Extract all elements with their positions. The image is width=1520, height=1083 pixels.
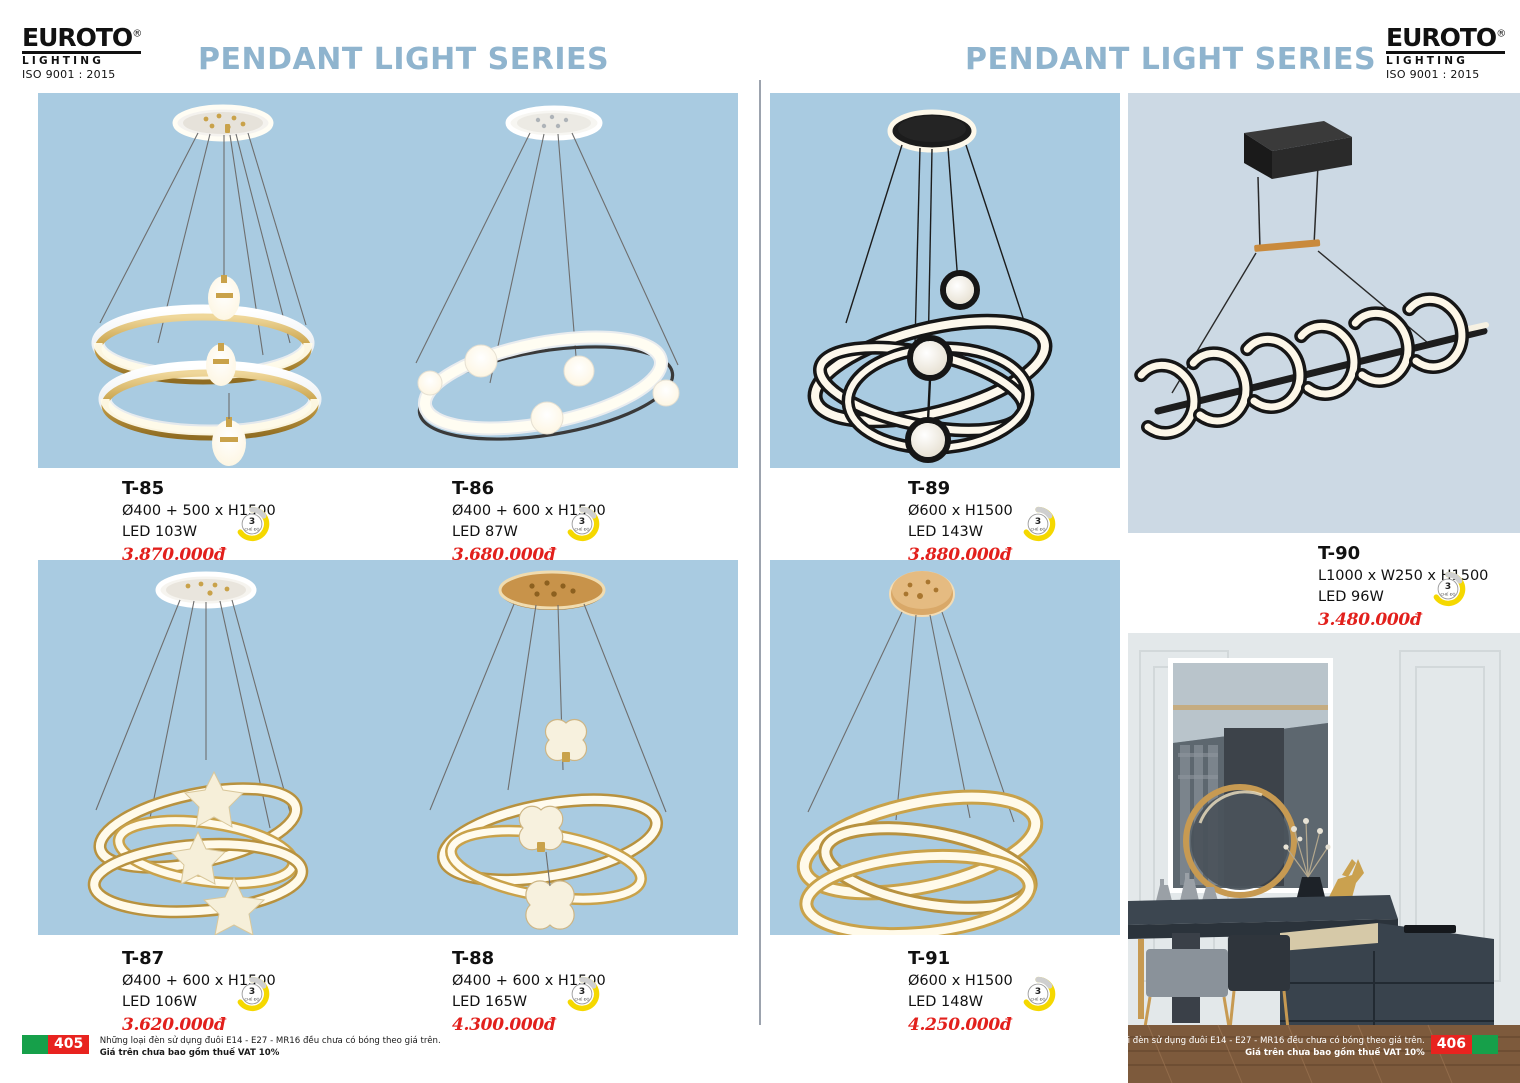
warranty-3-year-icon: 3 CHẾ ĐỘ [1020, 506, 1056, 542]
caption-t85: T-85 Ø400 + 500 x H1500 LED 103W 3.870.0… [122, 478, 276, 568]
warranty-3-year-icon: 3 CHẾ ĐỘ [1020, 976, 1056, 1012]
lamp-illustrations-bottom-left [38, 560, 738, 935]
caption-t89: T-89 Ø600 x H1500 LED 143W 3.880.000đ 3 … [908, 478, 1060, 568]
svg-text:3: 3 [1034, 517, 1040, 527]
svg-text:3: 3 [578, 987, 584, 997]
product-code: T-86 [452, 478, 606, 501]
logo-subtitle: LIGHTING [22, 55, 147, 67]
product-code: T-90 [1318, 543, 1488, 566]
logo-iso-text: ISO 9001 : 2015 [1386, 68, 1511, 81]
svg-text:3: 3 [578, 517, 584, 527]
footer-note-line1: Những loại đèn sử dụng đuôi E14 - E27 - … [1084, 1036, 1425, 1046]
left-page-footer: 405 Những loại đèn sử dụng đuôi E14 - E2… [22, 1035, 441, 1069]
logo-iso-text: ISO 9001 : 2015 [22, 68, 147, 81]
lamp-t89 [805, 112, 1054, 460]
lamp-t90 [1134, 121, 1486, 437]
product-price: 4.300.000đ [452, 1014, 556, 1038]
panel-top-left [38, 93, 738, 468]
right-page-number: 406 [1431, 1035, 1472, 1054]
left-page: EUROTO® LIGHTING ISO 9001 : 2015 PENDANT… [0, 0, 760, 1083]
lamp-t85 [98, 107, 315, 466]
product-power: LED 165W [452, 992, 556, 1014]
product-code: T-91 [908, 948, 1060, 971]
product-price: 4.250.000đ [908, 1014, 1012, 1038]
svg-text:3: 3 [248, 517, 254, 527]
panel-t91 [770, 560, 1120, 935]
caption-t90: T-90 L1000 x W250 x H1500 LED 96W 3.480.… [1318, 543, 1488, 633]
product-price: 3.480.000đ [1318, 609, 1422, 633]
warranty-3-year-icon: 3 CHẾ ĐỘ [1430, 571, 1466, 607]
footer-note-line2: Giá trên chưa bao gồm thuế VAT 10% [1245, 1048, 1425, 1058]
panel-bottom-left [38, 560, 738, 935]
left-page-number: 405 [48, 1035, 89, 1054]
right-page: PENDANT LIGHT SERIES EUROTO® LIGHTING IS… [760, 0, 1520, 1083]
footer-note-line1: Những loại đèn sử dụng đuôi E14 - E27 - … [100, 1036, 441, 1046]
caption-t88: T-88 Ø400 + 600 x H1500 LED 165W 4.300.0… [452, 948, 606, 1038]
logo-wordmark: EUROTO® [22, 26, 147, 50]
bedroom-vanity-scene [1128, 633, 1520, 1083]
lamp-illustration-t89 [770, 93, 1120, 468]
page-spine-divider [759, 80, 761, 1025]
warranty-3-year-icon: 3 CHẾ ĐỘ [234, 976, 270, 1012]
warranty-3-year-icon: 3 CHẾ ĐỘ [564, 976, 600, 1012]
lamp-illustrations-top-left [38, 93, 738, 468]
warranty-3-year-icon: 3 CHẾ ĐỘ [234, 506, 270, 542]
footer-note-line2: Giá trên chưa bao gồm thuế VAT 10% [100, 1048, 280, 1058]
right-page-footer: Những loại đèn sử dụng đuôi E14 - E27 - … [1084, 1035, 1498, 1069]
catalog-spread: EUROTO® LIGHTING ISO 9001 : 2015 PENDANT… [0, 0, 1520, 1083]
warranty-3-year-icon: 3 CHẾ ĐỘ [564, 506, 600, 542]
panel-t89 [770, 93, 1120, 468]
product-power: LED 143W [908, 522, 1012, 544]
right-page-title: PENDANT LIGHT SERIES [965, 42, 1376, 77]
caption-t91: T-91 Ø600 x H1500 LED 148W 4.250.000đ 3 … [908, 948, 1060, 1038]
footer-green-block [1472, 1035, 1498, 1054]
product-code: T-88 [452, 948, 606, 971]
left-page-title: PENDANT LIGHT SERIES [198, 42, 609, 77]
lamp-t88 [430, 572, 666, 929]
lamp-illustration-t90 [1128, 93, 1520, 533]
product-code: T-87 [122, 948, 276, 971]
logo-wordmark: EUROTO® [1386, 26, 1511, 50]
product-power: LED 148W [908, 992, 1012, 1014]
product-power: LED 103W [122, 522, 226, 544]
left-brand-logo: EUROTO® LIGHTING ISO 9001 : 2015 [22, 26, 147, 82]
svg-text:3: 3 [1034, 987, 1040, 997]
footer-green-block [22, 1035, 48, 1054]
product-power: LED 87W [452, 522, 556, 544]
product-code: T-89 [908, 478, 1060, 501]
interior-scene-photo [1128, 633, 1520, 1083]
logo-subtitle: LIGHTING [1386, 55, 1511, 67]
svg-text:3: 3 [248, 987, 254, 997]
lamp-t91 [796, 571, 1044, 935]
right-brand-logo: EUROTO® LIGHTING ISO 9001 : 2015 [1386, 26, 1511, 82]
round-gold-mirror [1186, 787, 1294, 895]
svg-text:3: 3 [1444, 582, 1450, 592]
lamp-t86 [413, 108, 679, 455]
product-code: T-85 [122, 478, 276, 501]
panel-t90 [1128, 93, 1520, 533]
product-power: LED 96W [1318, 587, 1422, 609]
lamp-t87 [92, 574, 304, 935]
product-power: LED 106W [122, 992, 226, 1014]
caption-t86: T-86 Ø400 + 600 x H1500 LED 87W 3.680.00… [452, 478, 606, 568]
lamp-illustration-t91 [770, 560, 1120, 935]
caption-t87: T-87 Ø400 + 600 x H1500 LED 106W 3.620.0… [122, 948, 276, 1038]
